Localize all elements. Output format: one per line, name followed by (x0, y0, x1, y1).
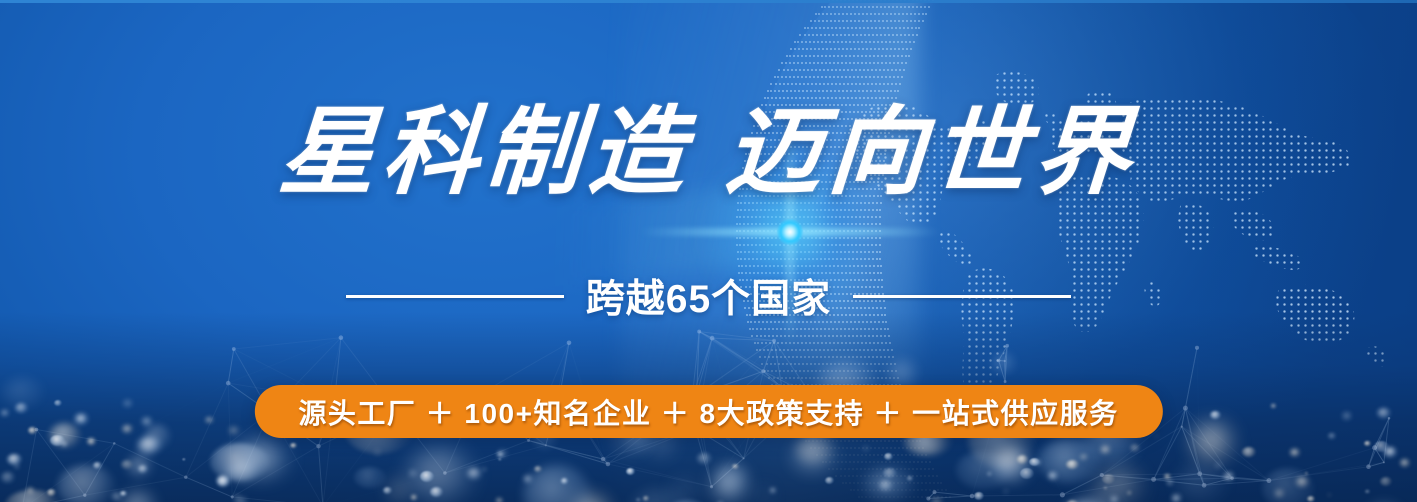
subtitle-row: 跨越65个国家 (0, 268, 1417, 324)
headline-part-1: 星科制造 (276, 99, 695, 206)
banner-content: 星科制造迈向世界 跨越65个国家 源头工厂 ＋ 100+知名企业 ＋ 8大政策支… (0, 0, 1417, 502)
features-pill[interactable]: 源头工厂 ＋ 100+知名企业 ＋ 8大政策支持 ＋ 一站式供应服务 (254, 385, 1162, 438)
headline: 星科制造迈向世界 (0, 104, 1417, 202)
subtitle-rule-right (853, 295, 1071, 298)
subtitle-rule-left (346, 295, 564, 298)
headline-part-2: 迈向世界 (722, 99, 1141, 206)
subtitle-text: 跨越65个国家 (586, 268, 831, 324)
promo-banner: 星科制造迈向世界 跨越65个国家 源头工厂 ＋ 100+知名企业 ＋ 8大政策支… (0, 0, 1417, 502)
features-pill-text: 源头工厂 ＋ 100+知名企业 ＋ 8大政策支持 ＋ 一站式供应服务 (298, 392, 1118, 432)
